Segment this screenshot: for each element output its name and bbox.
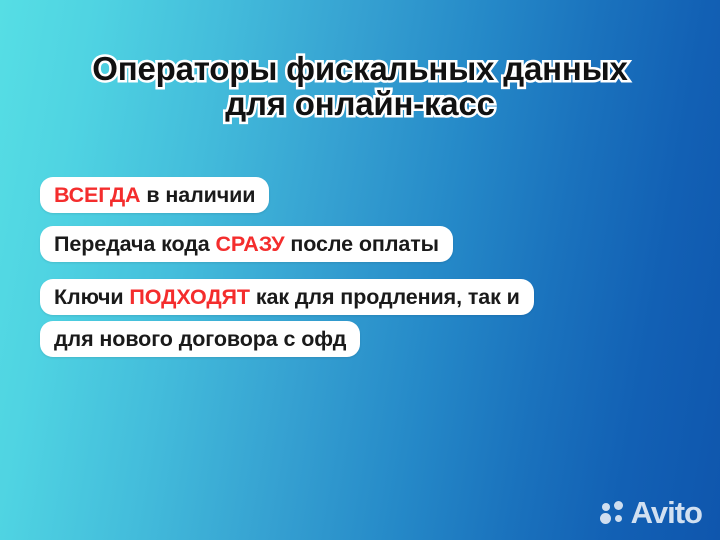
page-title: Операторы фискальных данных для онлайн-к… [0, 52, 720, 122]
avito-wordmark: Avito [631, 497, 702, 528]
bullet-plain: в наличии [140, 183, 255, 207]
bullet-plain: после оплаты [285, 232, 439, 256]
bullet-text: Передача кода СРАЗУ после оплаты [40, 226, 453, 262]
bullet-highlight: ПОДХОДЯТ [129, 285, 250, 309]
bullet-plain: Ключи [54, 285, 129, 309]
bullet-text: Ключи ПОДХОДЯТ как для продления, так ид… [40, 279, 534, 358]
bullet-highlight: СРАЗУ [216, 232, 285, 256]
bullet-text: ВСЕГДА в наличии [40, 177, 269, 213]
avito-logo-icon [600, 500, 626, 526]
bullet-list: ВСЕГДА в наличииПередача кода СРАЗУ посл… [40, 178, 680, 375]
bullet-highlight: ВСЕГДА [54, 183, 140, 207]
bullet-code-delivery: Передача кода СРАЗУ после оплаты [40, 227, 680, 262]
poster-canvas: Операторы фискальных данных для онлайн-к… [0, 0, 720, 540]
page-title-line-2: для онлайн-касс [0, 87, 720, 122]
page-title-line-1: Операторы фискальных данных [0, 52, 720, 87]
avito-watermark: Avito [600, 497, 702, 528]
bullet-availability: ВСЕГДА в наличии [40, 178, 680, 213]
bullet-plain: для нового договора с офд [54, 327, 346, 351]
bullet-plain: Передача кода [54, 232, 216, 256]
bullet-keys-compatibility: Ключи ПОДХОДЯТ как для продления, так ид… [40, 276, 680, 361]
bullet-plain: как для продления, так и [250, 285, 520, 309]
